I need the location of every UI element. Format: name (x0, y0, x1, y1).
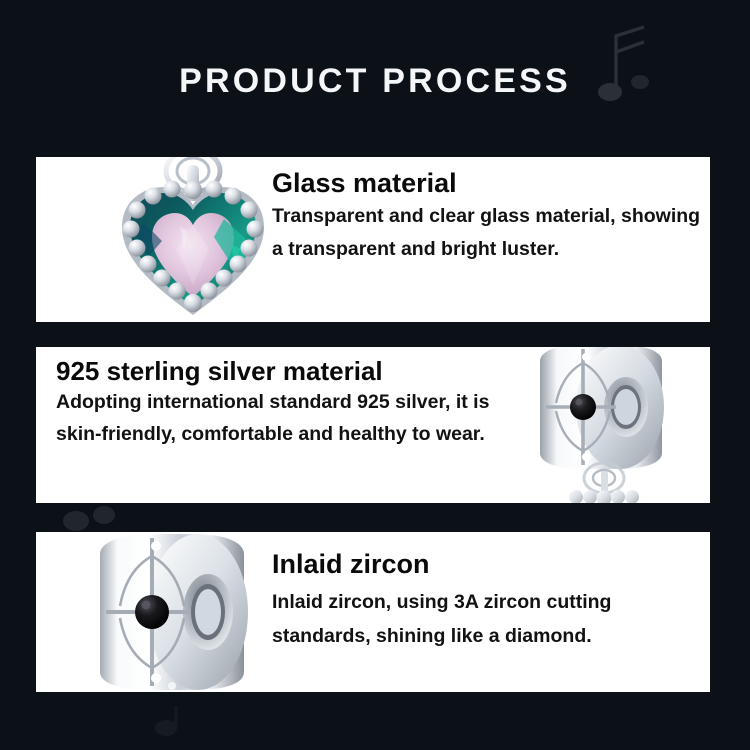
panel-2-heading: 925 sterling silver material (56, 358, 511, 385)
music-note-bottom-left-icon (150, 700, 190, 740)
silver-clip-bead-charm (516, 347, 710, 503)
feature-panel-sterling-silver: 925 sterling silver material Adopting in… (36, 347, 710, 503)
feature-panel-inlaid-zircon: Inlaid zircon Inlaid zircon, using 3A zi… (36, 532, 710, 692)
panel-1-body: Transparent and clear glass material, sh… (272, 200, 702, 267)
heart-pendant-charm (114, 157, 272, 322)
center-stone (135, 595, 169, 629)
feature-panel-glass-material: Glass material Transparent and clear gla… (36, 157, 710, 322)
silver-clip-bead-zircon-charm (86, 532, 276, 692)
page-title: PRODUCT PROCESS (0, 62, 750, 101)
panel-3-body: Inlaid zircon, using 3A zircon cutting s… (272, 585, 702, 654)
panel-3-heading: Inlaid zircon (272, 551, 702, 579)
panel-2-body: Adopting international standard 925 silv… (56, 386, 511, 452)
center-stone (570, 394, 596, 420)
panel-1-heading: Glass material (272, 170, 702, 198)
panel-3-text: Inlaid zircon Inlaid zircon, using 3A zi… (272, 551, 702, 654)
hanging-pendant (569, 463, 639, 503)
panel-2-text: 925 sterling silver material Adopting in… (56, 358, 511, 451)
panel-1-text: Glass material Transparent and clear gla… (272, 170, 702, 267)
